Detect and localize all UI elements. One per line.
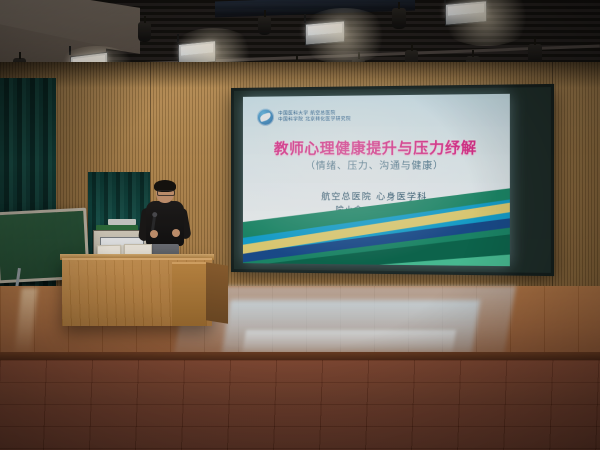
presentation-slide: 中国医科大学 航空总医院 中国科学院 北京转化医学研究院 教师心理健康提升与压力… [243, 94, 510, 266]
light-yoke [304, 14, 306, 23]
light-lens [448, 3, 484, 15]
light-yoke [69, 46, 71, 55]
slide-subtitle: （情绪、压力、沟通与健康） [243, 157, 510, 172]
spot-can-5 [392, 8, 406, 29]
house-floor [0, 360, 600, 450]
presenter-left-hand [150, 230, 158, 238]
institution-logo: 中国医科大学 航空总医院 中国科学院 北京转化医学研究院 [257, 108, 351, 126]
institution-logo-text: 中国医科大学 航空总医院 中国科学院 北京转化医学研究院 [278, 111, 351, 123]
presenter-right-hand [172, 229, 180, 237]
light-yoke [444, 0, 446, 3]
light-yoke [177, 34, 179, 43]
projection-screen[interactable]: 中国医科大学 航空总医院 中国科学院 北京转化医学研究院 教师心理健康提升与压力… [231, 84, 554, 276]
logo-line-1: 中国医科大学 航空总医院 [278, 111, 351, 117]
speaking-podium [172, 262, 206, 326]
light-lens [308, 24, 342, 36]
slide-title: 教师心理健康提升与压力纾解 [243, 136, 510, 159]
spot-can-4 [258, 16, 271, 35]
glasses-icon [157, 190, 175, 196]
spot-can-3 [138, 22, 151, 42]
light-housing [305, 20, 345, 45]
hospital-logo-icon [257, 109, 274, 126]
av-equipment-white-case [108, 219, 136, 225]
logo-line-2: 中国科学院 北京转化医学研究院 [278, 117, 351, 123]
conference-desk-side-panel [206, 262, 228, 323]
light-housing [445, 0, 487, 26]
light-lens [181, 43, 213, 55]
auditorium-lecture-scene: 中国医科大学 航空总医院 中国科学院 北京转化医学研究院 教师心理健康提升与压力… [0, 0, 600, 450]
